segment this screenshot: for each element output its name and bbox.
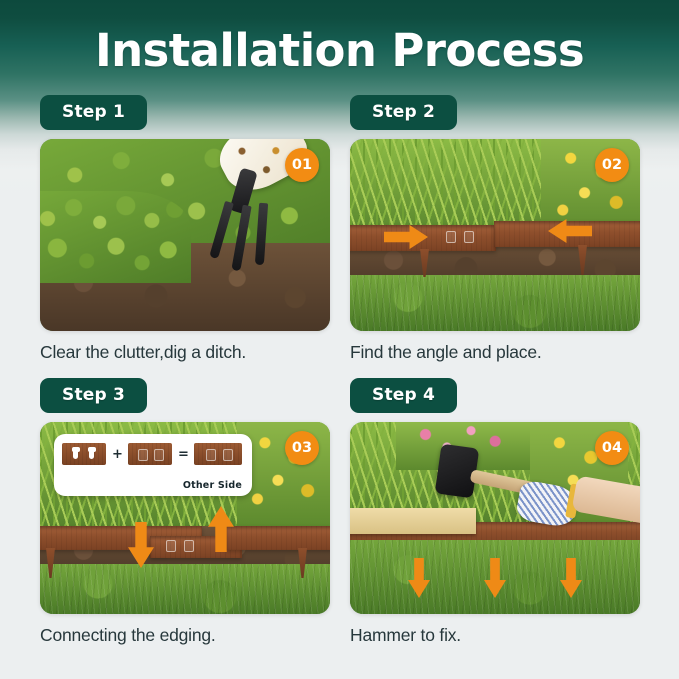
- step-card-2: Step 2 02 Find the angle and place.: [350, 95, 647, 363]
- step-caption-1: Clear the clutter,dig a ditch.: [40, 342, 337, 363]
- tab-icon: [138, 449, 148, 461]
- tab-icon: [166, 540, 176, 552]
- step-card-3: Step 3 03 +: [40, 378, 337, 646]
- step-caption-2: Find the angle and place.: [350, 342, 647, 363]
- step-badge-3: Step 3: [40, 378, 147, 413]
- step-image-4: 04: [350, 422, 640, 614]
- slot-icon: [73, 447, 78, 459]
- step-badge-4: Step 4: [350, 378, 457, 413]
- step-number-badge-2: 02: [595, 148, 629, 182]
- other-side-label: Other Side: [183, 480, 242, 491]
- edging-panel-right: [226, 526, 330, 550]
- step-card-4: Step 4 04 Hammer to fix.: [350, 378, 647, 646]
- step-badge-2: Step 2: [350, 95, 457, 130]
- installation-process-infographic: Installation Process Step 1 01 Clear the…: [0, 0, 679, 679]
- step-image-3: 03 + =: [40, 422, 330, 614]
- step-image-2: 02: [350, 139, 640, 331]
- step-number-badge-3: 03: [285, 431, 319, 465]
- step-badge-1: Step 1: [40, 95, 147, 130]
- tab-icon: [223, 449, 233, 461]
- panel-tab-icon: [464, 231, 474, 243]
- step-card-1: Step 1 01 Clear the clutter,dig a ditch.: [40, 95, 337, 363]
- connection-diagram: + = Other Side: [54, 434, 252, 496]
- tab-icon: [206, 449, 216, 461]
- diagram-panel-joined: [194, 443, 242, 465]
- step-caption-3: Connecting the edging.: [40, 625, 337, 646]
- plus-symbol: +: [112, 447, 123, 462]
- steps-grid: Step 1 01 Clear the clutter,dig a ditch.…: [0, 0, 679, 679]
- panel-tab-icon: [446, 231, 456, 243]
- slot-icon: [89, 447, 94, 459]
- diagram-panel-slots: [62, 443, 106, 465]
- equals-symbol: =: [178, 447, 189, 462]
- tab-icon: [154, 449, 164, 461]
- step-caption-4: Hammer to fix.: [350, 625, 647, 646]
- lawn-layer: [350, 275, 640, 331]
- step-number-badge-1: 01: [285, 148, 319, 182]
- step-number-badge-4: 04: [595, 431, 629, 465]
- lawn-layer: [40, 564, 330, 614]
- diagram-panel-tabs: [128, 443, 172, 465]
- step-image-1: 01: [40, 139, 330, 331]
- moss-clump: [40, 191, 191, 283]
- wood-plank: [350, 508, 476, 534]
- tab-icon: [184, 540, 194, 552]
